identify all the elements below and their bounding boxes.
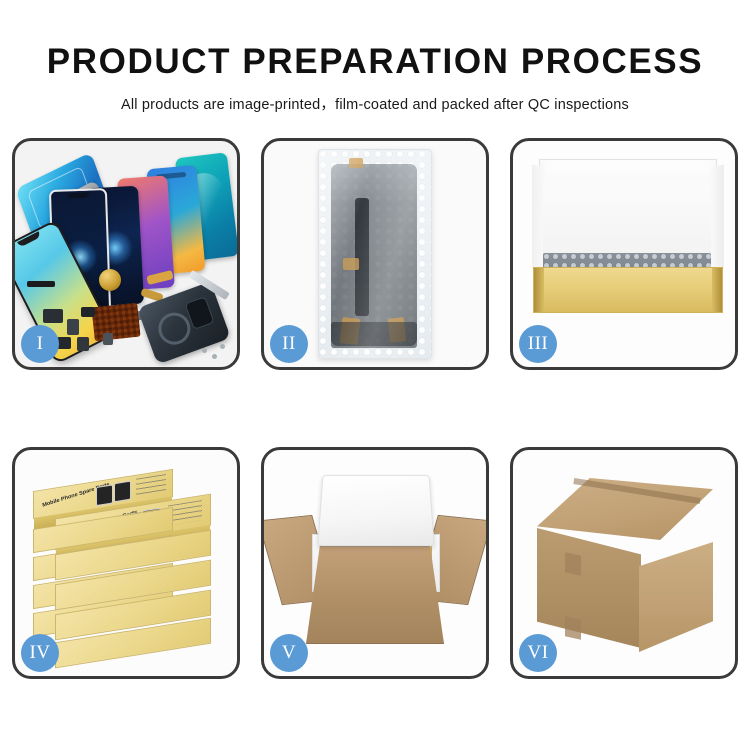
part-screw-2 <box>202 348 207 353</box>
shipping-carton-side <box>639 542 713 652</box>
retail-box-stack: Mobile Phone Spare Parts Mobile Phone Sp… <box>29 472 229 656</box>
process-step-5: V <box>261 447 489 679</box>
part-screw-1 <box>212 354 217 359</box>
product-preparation-page: PRODUCT PREPARATION PROCESS All products… <box>0 0 750 750</box>
process-step-3: III <box>510 138 738 370</box>
part-gold-disc <box>99 269 121 291</box>
step-badge-4: IV <box>21 634 59 672</box>
step-numeral-3: III <box>528 333 548 355</box>
step-badge-1: I <box>21 325 59 363</box>
process-step-6: VI <box>510 447 738 679</box>
carton-tape-patch-bottom <box>565 616 581 639</box>
foam-liner-lid <box>317 475 434 546</box>
step-badge-5: V <box>270 634 308 672</box>
step-badge-2: II <box>270 325 308 363</box>
part-black-bar <box>27 281 55 287</box>
page-title: PRODUCT PREPARATION PROCESS <box>0 44 750 81</box>
carton-tape-patch-top <box>565 552 581 575</box>
step-badge-6: VI <box>519 634 557 672</box>
step-numeral-4: IV <box>29 642 50 664</box>
process-step-grid: I II <box>12 138 738 680</box>
part-chip-1 <box>43 309 63 323</box>
part-chip-6 <box>77 337 89 351</box>
part-chip-2 <box>67 319 79 335</box>
part-circuit-grid <box>91 303 140 342</box>
part-screw-3 <box>220 344 225 349</box>
shipping-carton-front <box>537 528 641 648</box>
page-header: PRODUCT PREPARATION PROCESS All products… <box>0 0 750 114</box>
step-numeral-6: VI <box>527 642 548 664</box>
bag-gloss-overlay <box>319 150 431 358</box>
page-subtitle: All products are image-printed，film-coat… <box>0 93 750 114</box>
part-chip-3 <box>81 307 95 317</box>
carton-body <box>306 546 444 644</box>
bubble-wrap-bag <box>318 149 432 359</box>
step-numeral-5: V <box>282 642 296 664</box>
step-numeral-1: I <box>37 333 44 355</box>
step-badge-3: III <box>519 325 557 363</box>
process-step-2: II <box>261 138 489 370</box>
part-chip-5 <box>57 337 71 349</box>
step-numeral-2: II <box>282 333 296 355</box>
process-step-4: Mobile Phone Spare Parts Mobile Phone Sp… <box>12 447 240 679</box>
process-step-1: I <box>12 138 240 370</box>
part-chip-7 <box>103 333 113 345</box>
box-yellow-tray <box>533 267 723 313</box>
